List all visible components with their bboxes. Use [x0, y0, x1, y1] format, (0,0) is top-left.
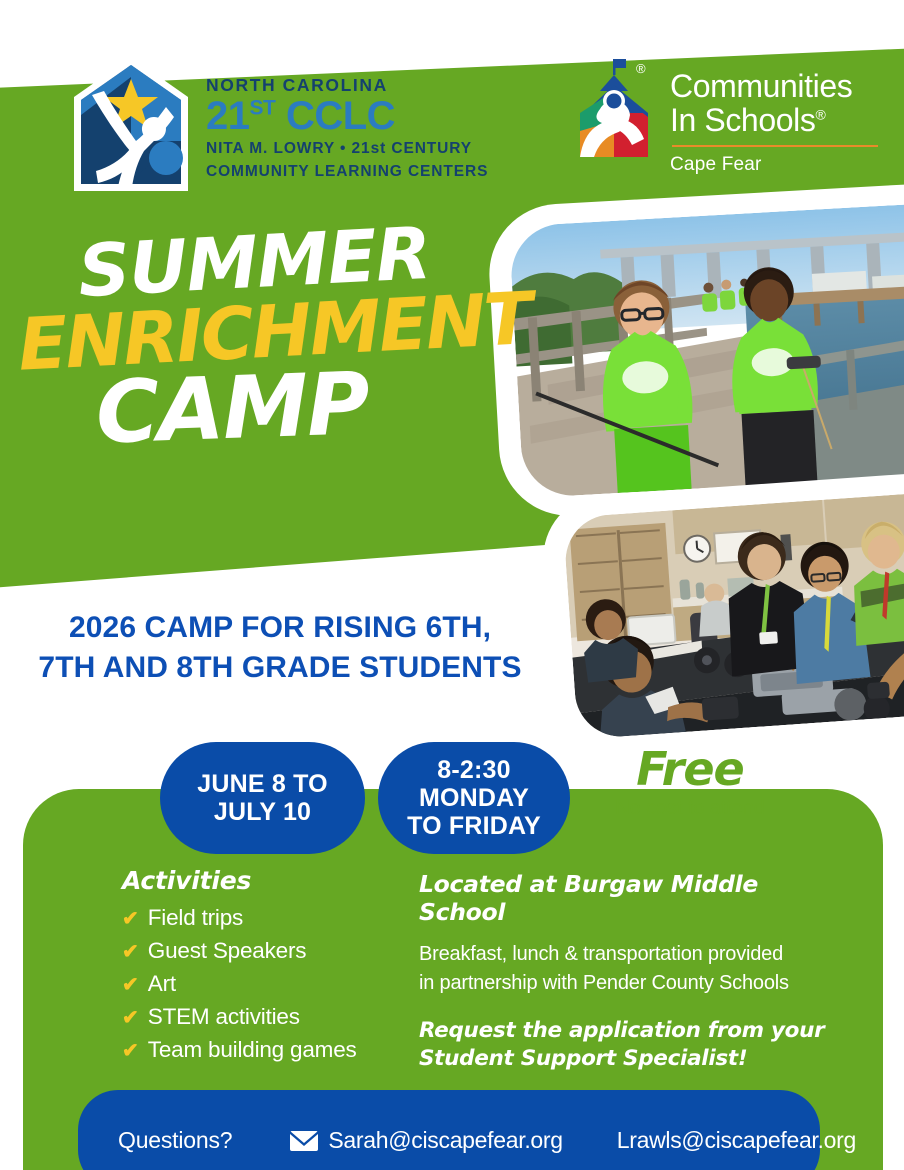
- students-robotics-classroom-photo: [539, 473, 904, 761]
- list-item: ✔ Team building games: [122, 1034, 422, 1066]
- list-item: ✔ Guest Speakers: [122, 935, 422, 967]
- cclc-line-community-learning: COMMUNITY LEARNING CENTERS: [206, 163, 488, 182]
- email-contact-1[interactable]: Sarah@ciscapefear.org: [290, 1127, 562, 1154]
- registered-mark: ®: [815, 107, 825, 123]
- provided-text: Breakfast, lunch & transportation provid…: [419, 940, 829, 997]
- envelope-icon: [290, 1130, 318, 1150]
- details-column: Located at Burgaw Middle School Breakfas…: [419, 870, 829, 1072]
- free-headline: Free: [590, 746, 790, 792]
- request-line-2: Student Support Specialist!: [419, 1045, 829, 1073]
- communities-in-schools-logo: ® Communities In Schools® Cape Fear: [570, 57, 878, 176]
- flyer-page: NORTH CAROLINA 21ST CCLC NITA M. LOWRY •…: [0, 0, 904, 1170]
- email-address-2: Lrawls@ciscapefear.org: [617, 1127, 856, 1153]
- list-item: ✔ Field trips: [122, 902, 422, 934]
- svg-text:®: ®: [636, 61, 646, 76]
- dates-pill: JUNE 8 TO JULY 10: [160, 742, 365, 854]
- provided-line-2: in partnership with Pender County School…: [419, 969, 829, 997]
- cis-divider-rule: [672, 145, 878, 147]
- check-icon: ✔: [122, 975, 139, 995]
- hours-pill: 8-2:30 MONDAY TO FRIDAY: [378, 742, 570, 854]
- email-address-1: Sarah@ciscapefear.org: [328, 1127, 562, 1154]
- hero-title: SUMMER ENRICHMENT CAMP: [0, 228, 470, 448]
- cclc-line-nita-lowry: NITA M. LOWRY • 21st CENTURY: [206, 140, 488, 159]
- cis-in-schools-text: In Schools: [670, 102, 815, 138]
- check-icon: ✔: [122, 942, 139, 962]
- cis-affiliate-cape-fear: Cape Fear: [670, 154, 878, 176]
- check-icon: ✔: [122, 1041, 139, 1061]
- cis-line-communities: Communities: [670, 69, 878, 103]
- activity-label: Team building games: [148, 1034, 357, 1066]
- photo-1-frame: [509, 203, 904, 498]
- dates-line-1: JUNE 8 TO: [197, 770, 328, 798]
- request-line-1: Request the application from your: [419, 1017, 829, 1045]
- free-subtext: No cost to attend: [590, 797, 790, 820]
- questions-label: Questions?: [118, 1127, 232, 1154]
- students-fishing-on-pier-photo: [486, 185, 904, 520]
- subtitle-line-1: 2026 CAMP FOR RISING 6TH,: [0, 608, 560, 648]
- check-icon: ✔: [122, 1008, 139, 1028]
- email-contact-2[interactable]: Lrawls@ciscapefear.org: [617, 1127, 856, 1154]
- cclc-21: 21: [206, 94, 250, 138]
- dates-line-2: JULY 10: [197, 798, 328, 826]
- location-heading: Located at Burgaw Middle School: [419, 870, 829, 926]
- hours-line-2: MONDAY: [407, 784, 541, 812]
- cis-wordmark: Communities In Schools® Cape Fear: [670, 57, 878, 176]
- cclc-acronym: CCLC: [286, 94, 395, 138]
- robotics-photo-illustration: [563, 491, 904, 739]
- flyer-header: NORTH CAROLINA 21ST CCLC NITA M. LOWRY •…: [0, 0, 904, 210]
- activity-label: Field trips: [148, 902, 243, 934]
- activity-label: Art: [148, 968, 176, 1000]
- request-application-text: Request the application from your Studen…: [419, 1017, 829, 1072]
- pier-photo-illustration: [509, 203, 904, 498]
- hero-line-camp: CAMP: [95, 362, 472, 454]
- nc-21st-cclc-logo: NORTH CAROLINA 21ST CCLC NITA M. LOWRY •…: [70, 55, 488, 195]
- dates-pill-text: JUNE 8 TO JULY 10: [197, 770, 328, 826]
- check-icon: ✔: [122, 909, 139, 929]
- activities-column: Activities ✔ Field trips ✔ Guest Speaker…: [122, 866, 422, 1067]
- hours-line-1: 8-2:30: [407, 756, 541, 784]
- communities-in-schools-schoolhouse-logo: ®: [570, 57, 654, 161]
- cclc-house-star-figure-logo: [70, 55, 192, 195]
- activity-label: STEM activities: [148, 1001, 300, 1033]
- provided-line-1: Breakfast, lunch & transportation provid…: [419, 940, 829, 968]
- subtitle-line-2: 7TH AND 8TH GRADE STUDENTS: [0, 648, 560, 688]
- cclc-line-north-carolina: NORTH CAROLINA: [206, 75, 488, 95]
- cis-line-in-schools: In Schools®: [670, 103, 878, 137]
- cis-logo-svg: ®: [570, 57, 654, 161]
- contact-footer-bar: Questions? Sarah@ciscapefear.org Lrawls@…: [78, 1090, 820, 1170]
- activities-heading: Activities: [122, 866, 422, 895]
- cclc-logo-svg: [70, 55, 192, 195]
- free-callout: Free No cost to attend: [590, 746, 790, 820]
- info-pills-row: JUNE 8 TO JULY 10 8-2:30 MONDAY TO FRIDA…: [0, 742, 904, 860]
- hours-pill-text: 8-2:30 MONDAY TO FRIDAY: [407, 756, 541, 840]
- cclc-st: ST: [250, 96, 276, 119]
- camp-subtitle: 2026 CAMP FOR RISING 6TH, 7TH AND 8TH GR…: [0, 608, 560, 687]
- cclc-logo-wordmark: NORTH CAROLINA 21ST CCLC NITA M. LOWRY •…: [206, 69, 488, 182]
- envelope-icon-svg: [290, 1131, 318, 1151]
- cclc-line-21st-cclc: 21ST CCLC: [206, 96, 488, 136]
- photo-2-frame: [563, 491, 904, 739]
- list-item: ✔ Art: [122, 968, 422, 1000]
- activity-label: Guest Speakers: [148, 935, 307, 967]
- hours-line-3: TO FRIDAY: [407, 812, 541, 840]
- list-item: ✔ STEM activities: [122, 1001, 422, 1033]
